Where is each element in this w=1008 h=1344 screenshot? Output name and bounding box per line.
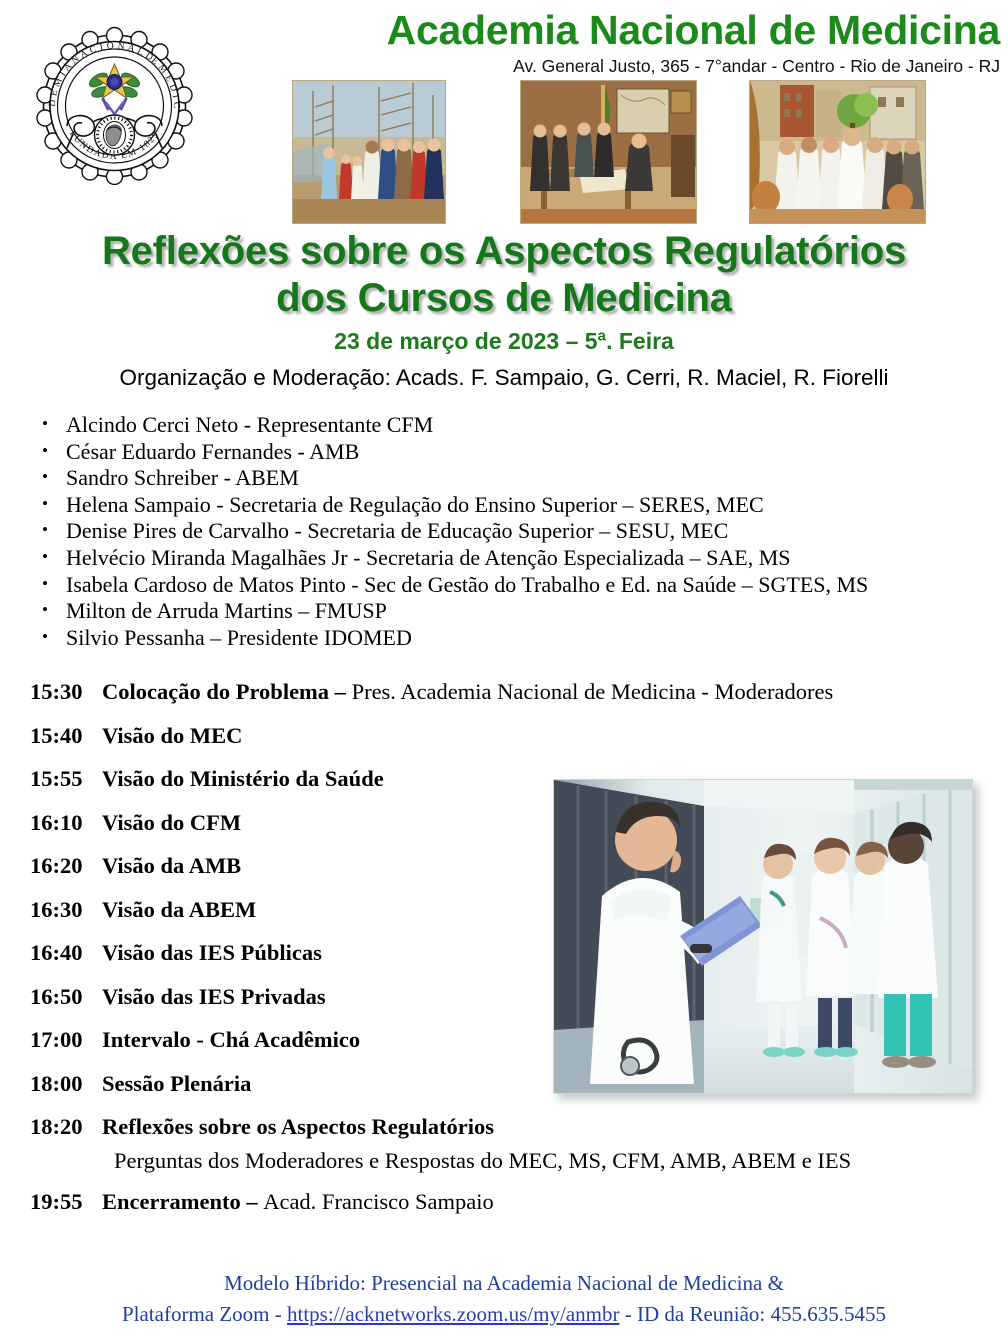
footer-line-1: Modelo Híbrido: Presencial na Academia N…: [0, 1268, 1008, 1299]
schedule-time: 16:20: [30, 852, 102, 879]
list-item: Alcindo Cerci Neto - Representante CFM: [36, 412, 1008, 439]
schedule-time: 16:10: [30, 809, 102, 836]
event-date: 23 de março de 2023 – 5ª. Feira: [0, 328, 1008, 355]
schedule-time: 19:55: [30, 1188, 102, 1215]
schedule-time: 16:30: [30, 896, 102, 923]
footer-platform-label: Plataforma Zoom -: [122, 1302, 287, 1326]
schedule-title: Visão do CFM: [102, 810, 241, 835]
list-item: Milton de Arruda Martins – FMUSP: [36, 598, 1008, 625]
schedule-title: Sessão Plenária: [102, 1071, 251, 1096]
schedule-detail: Pres. Academia Nacional de Medicina - Mo…: [352, 679, 834, 704]
schedule-section: 15:30Colocação do Problema – Pres. Acade…: [30, 678, 990, 1231]
schedule-time: 15:40: [30, 722, 102, 749]
schedule-row: 17:00Intervalo - Chá Acadêmico: [30, 1026, 990, 1053]
schedule-title: Visão das IES Privadas: [102, 984, 326, 1009]
schedule-row: 15:40Visão do MEC: [30, 722, 990, 749]
schedule-subline: Perguntas dos Moderadores e Respostas do…: [30, 1147, 990, 1174]
schedule-row: 16:30Visão da ABEM: [30, 896, 990, 923]
painting-academy-meeting: [520, 80, 697, 224]
schedule-time: 17:00: [30, 1026, 102, 1053]
list-item: Helena Sampaio - Secretaria de Regulação…: [36, 492, 1008, 519]
schedule-row: 15:55Visão do Ministério da Saúde: [30, 765, 990, 792]
schedule-title: Colocação do Problema –: [102, 679, 352, 704]
schedule-row: 16:20Visão da AMB: [30, 852, 990, 879]
participants-list: Alcindo Cerci Neto - Representante CFM C…: [0, 412, 1008, 651]
list-item: Helvécio Miranda Magalhães Jr - Secretar…: [36, 545, 1008, 572]
event-title-block: Reflexões sobre os Aspectos Regulatórios…: [0, 228, 1008, 391]
schedule-detail: Acad. Francisco Sampaio: [263, 1189, 494, 1214]
organization-title: Academia Nacional de Medicina: [232, 8, 1000, 52]
schedule-row: 15:30Colocação do Problema – Pres. Acade…: [30, 678, 990, 705]
list-item: Denise Pires de Carvalho - Secretaria de…: [36, 518, 1008, 545]
schedule-time: 18:20: [30, 1113, 102, 1140]
footer-line-2: Plataforma Zoom - https://acknetworks.zo…: [0, 1299, 1008, 1330]
schedule-row: 19:55Encerramento – Acad. Francisco Samp…: [30, 1188, 990, 1215]
participants-section: Alcindo Cerci Neto - Representante CFM C…: [0, 412, 1008, 651]
schedule-time: 16:50: [30, 983, 102, 1010]
schedule-title: Visão das IES Públicas: [102, 940, 322, 965]
schedule-title: Intervalo - Chá Acadêmico: [102, 1027, 360, 1052]
schedule-row: 16:40Visão das IES Públicas: [30, 939, 990, 966]
schedule-row: 18:20Reflexões sobre os Aspectos Regulat…: [30, 1113, 990, 1140]
list-item: Sandro Schreiber - ABEM: [36, 465, 1008, 492]
schedule-time: 15:55: [30, 765, 102, 792]
painting-physicians-street: [749, 80, 926, 224]
list-item: Isabela Cardoso de Matos Pinto - Sec de …: [36, 572, 1008, 599]
zoom-meeting-link[interactable]: https://acknetworks.zoom.us/my/anmbr: [287, 1302, 619, 1326]
schedule-title: Visão da AMB: [102, 853, 241, 878]
schedule-title: Visão da ABEM: [102, 897, 256, 922]
page-header: A C A D E M I A N A C I O N A L DE M E D…: [0, 0, 1008, 232]
schedule-row: 16:10Visão do CFM: [30, 809, 990, 836]
schedule-title: Visão do Ministério da Saúde: [102, 766, 384, 791]
schedule-time: 16:40: [30, 939, 102, 966]
academy-seal-logo: A C A D E M I A N A C I O N A L DE M E D…: [33, 22, 196, 185]
event-organizers: Organização e Moderação: Acads. F. Sampa…: [0, 364, 1008, 391]
schedule-title: Reflexões sobre os Aspectos Regulatórios: [102, 1114, 494, 1139]
event-title-line-1: Reflexões sobre os Aspectos Regulatórios: [0, 228, 1008, 275]
list-item: César Eduardo Fernandes - AMB: [36, 439, 1008, 466]
header-painting-strip: [292, 80, 982, 222]
schedule-time: 15:30: [30, 678, 102, 705]
schedule-title: Visão do MEC: [102, 723, 242, 748]
footer-meeting-id: - ID da Reunião: 455.635.5455: [619, 1302, 886, 1326]
footer-access-info: Modelo Híbrido: Presencial na Academia N…: [0, 1268, 1008, 1330]
schedule-title: Encerramento –: [102, 1189, 263, 1214]
schedule-time: 18:00: [30, 1070, 102, 1097]
organization-address: Av. General Justo, 365 - 7°andar - Centr…: [232, 56, 1000, 77]
schedule-row: 16:50Visão das IES Privadas: [30, 983, 990, 1010]
list-item: Silvio Pessanha – Presidente IDOMED: [36, 625, 1008, 652]
schedule-row: 18:00Sessão Plenária: [30, 1070, 990, 1097]
painting-arrival-ship: [292, 80, 446, 224]
event-title-line-2: dos Cursos de Medicina: [0, 275, 1008, 322]
